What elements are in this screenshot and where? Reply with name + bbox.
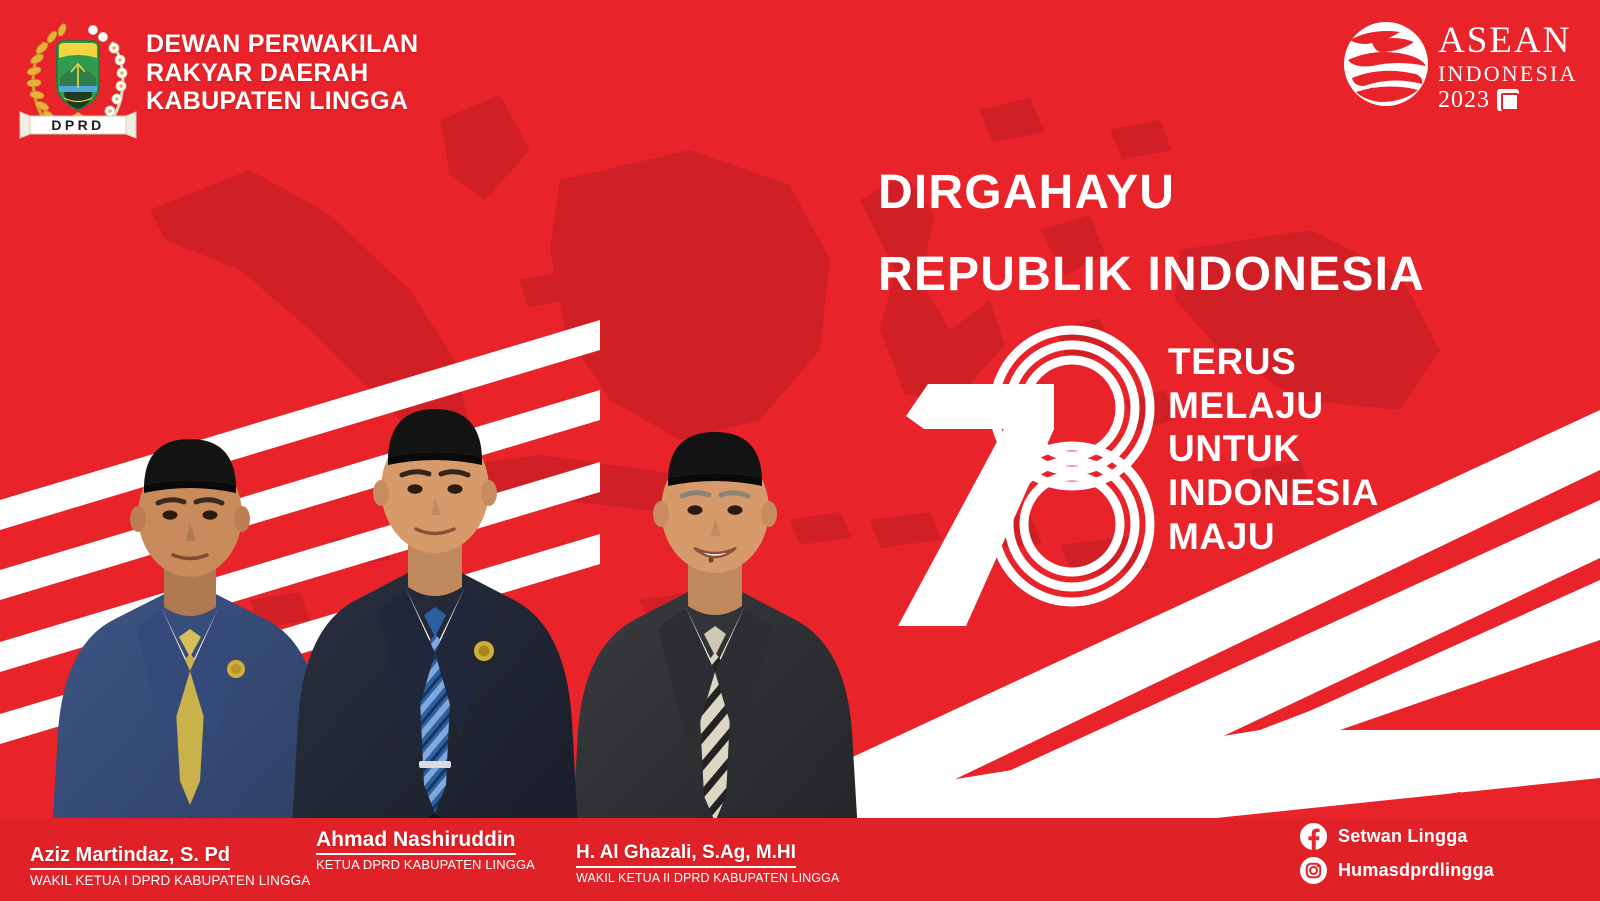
org-line-3: KABUPATEN LINGGA	[146, 87, 418, 116]
instagram-label[interactable]: Humasdprdlingga	[1338, 860, 1494, 881]
dprd-ribbon-text: DPRD	[51, 117, 104, 133]
digit-eight-rings	[994, 330, 1150, 602]
credit-aziz-martindaz: Aziz Martindaz, S. Pd WAKIL KETUA I DPRD…	[30, 844, 310, 889]
tagline-line-4: INDONESIA	[1168, 471, 1379, 515]
credit-role: WAKIL KETUA II DPRD KABUPATEN LINGGA	[576, 871, 839, 885]
tagline-line-1: TERUS	[1168, 340, 1379, 384]
tagline-line-2: MELAJU	[1168, 384, 1379, 428]
footer-band: Aziz Martindaz, S. Pd WAKIL KETUA I DPRD…	[0, 818, 1600, 901]
asean-chair-badge-icon	[1497, 89, 1519, 111]
social-links: Setwan Lingga Humasdprdlingga	[1300, 823, 1494, 891]
credit-al-ghazali: H. Al Ghazali, S.Ag, M.HI WAKIL KETUA II…	[576, 843, 839, 885]
tagline-block: TERUS MELAJU UNTUK INDONESIA MAJU	[1168, 340, 1379, 558]
officials-portrait-group	[0, 341, 900, 901]
org-line-1: DEWAN PERWAKILAN	[146, 30, 418, 59]
credit-role: WAKIL KETUA I DPRD KABUPATEN LINGGA	[30, 873, 310, 889]
facebook-label[interactable]: Setwan Lingga	[1338, 826, 1468, 847]
tagline-line-5: MAJU	[1168, 515, 1379, 559]
headline-line-1: DIRGAHAYU	[878, 168, 1425, 218]
headline-line-2: REPUBLIK INDONESIA	[878, 250, 1425, 300]
asean-year-row: 2023	[1438, 88, 1578, 112]
social-instagram[interactable]: Humasdprdlingga	[1300, 857, 1494, 884]
credit-ahmad-nashiruddin: Ahmad Nashiruddin KETUA DPRD KABUPATEN L…	[316, 828, 535, 873]
social-facebook[interactable]: Setwan Lingga	[1300, 823, 1494, 850]
asean-line-2: INDONESIA	[1438, 63, 1578, 85]
anniversary-78-logo	[876, 296, 1176, 626]
credit-name: Ahmad Nashiruddin	[316, 828, 516, 855]
facebook-icon[interactable]	[1300, 823, 1327, 850]
asean-year: 2023	[1438, 88, 1490, 112]
poster-canvas: DPRD DEWAN PERWAKILAN RAKYAR DAERAH KABU…	[0, 0, 1600, 901]
asean-line-1: ASEAN	[1438, 22, 1578, 59]
asean-wordmark: ASEAN INDONESIA 2023	[1438, 22, 1578, 112]
instagram-icon[interactable]	[1300, 857, 1327, 884]
asean-indonesia-2023-logo: ASEAN INDONESIA 2023	[1342, 18, 1582, 112]
headline-block: DIRGAHAYU REPUBLIK INDONESIA	[878, 168, 1425, 301]
organization-title: DEWAN PERWAKILAN RAKYAR DAERAH KABUPATEN…	[146, 30, 418, 116]
left-diagonal-stripes	[0, 430, 620, 850]
org-line-2: RAKYAR DAERAH	[146, 59, 418, 88]
tagline-line-3: UNTUK	[1168, 427, 1379, 471]
dprd-lingga-emblem-icon: DPRD	[14, 12, 142, 140]
credit-name: Aziz Martindaz, S. Pd	[30, 844, 230, 870]
credit-role: KETUA DPRD KABUPATEN LINGGA	[316, 858, 535, 873]
asean-globe-icon	[1342, 20, 1430, 108]
credit-name: H. Al Ghazali, S.Ag, M.HI	[576, 843, 796, 868]
